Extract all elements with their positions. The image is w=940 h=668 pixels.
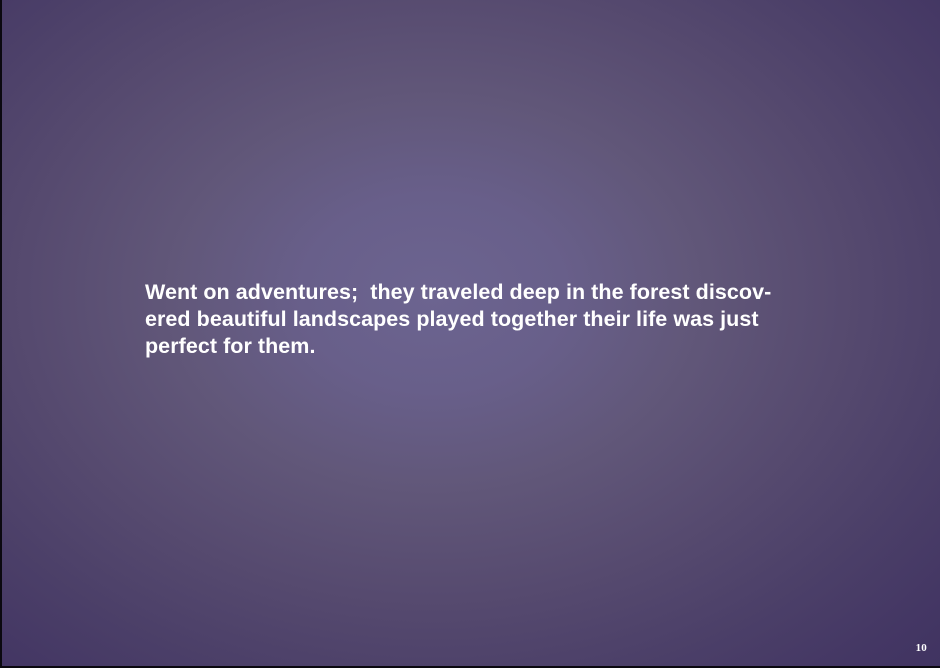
slide-body-text: Went on adventures; they traveled deep i…: [145, 279, 805, 360]
page-number: 10: [916, 643, 927, 654]
slide-canvas: Went on adventures; they traveled deep i…: [0, 0, 940, 668]
